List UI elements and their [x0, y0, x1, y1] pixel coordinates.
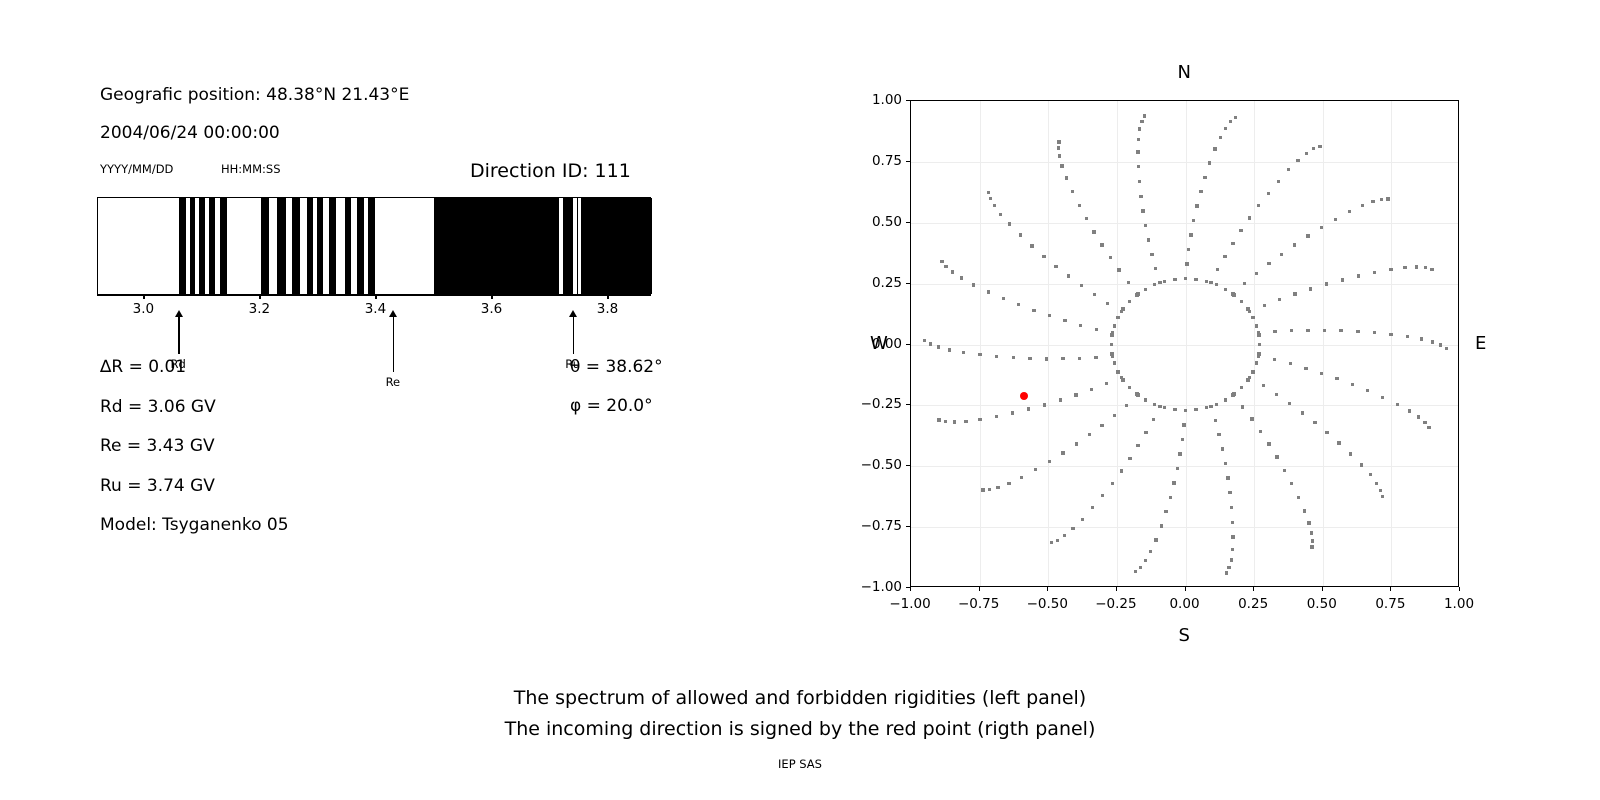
direction-point: [1339, 329, 1342, 332]
direction-point: [1389, 333, 1392, 336]
direction-point: [1375, 482, 1378, 485]
vertical-gridline: [1391, 101, 1392, 586]
direction-point: [1217, 433, 1220, 436]
forbidden-band: [190, 198, 195, 294]
direction-point: [1057, 146, 1060, 149]
direction-point: [1127, 281, 1130, 284]
direction-point: [1278, 298, 1281, 301]
direction-point: [953, 420, 956, 423]
direction-point: [1306, 234, 1309, 237]
forbidden-band: [277, 198, 286, 294]
x-tick: [1459, 587, 1460, 591]
direction-point: [1248, 216, 1251, 219]
forbidden-band: [581, 198, 652, 294]
x-tick-label: 0.75: [1375, 596, 1405, 612]
direction-point: [1246, 307, 1249, 310]
direction-point: [1058, 154, 1061, 157]
direction-point: [1194, 408, 1197, 411]
direction-point: [937, 345, 940, 348]
x-tick: [910, 587, 911, 591]
direction-point: [1205, 406, 1208, 409]
direction-point: [1430, 268, 1433, 271]
direction-point: [1240, 386, 1243, 389]
direction-point: [1144, 224, 1147, 227]
direction-point: [1424, 266, 1427, 269]
direction-point: [1313, 421, 1316, 424]
direction-point: [1065, 176, 1068, 179]
left-panel: Geografic position: 48.38°N 21.43°E 2004…: [0, 0, 760, 660]
direction-point: [1348, 210, 1351, 213]
direction-plot-area: [910, 100, 1459, 587]
direction-point: [1182, 423, 1185, 426]
direction-point: [978, 418, 981, 421]
x-tick: [1322, 587, 1323, 591]
direction-point: [1205, 280, 1208, 283]
direction-point: [1305, 152, 1308, 155]
direction-point: [1221, 447, 1224, 450]
direction-point: [1050, 541, 1053, 544]
spectrum-x-tick: [143, 295, 144, 299]
direction-point: [1379, 489, 1382, 492]
direction-point: [996, 486, 999, 489]
y-tick: [906, 283, 910, 284]
direction-point: [1158, 281, 1161, 284]
direction-point: [1160, 524, 1163, 527]
direction-point: [1048, 460, 1051, 463]
direction-point: [1138, 180, 1141, 183]
direction-point: [1209, 405, 1212, 408]
compass-north-label: N: [1178, 62, 1191, 83]
direction-point: [1125, 404, 1128, 407]
direction-point: [1406, 335, 1409, 338]
direction-point: [1389, 268, 1392, 271]
direction-point: [1214, 419, 1217, 422]
spectrum-marker-label: Re: [386, 375, 401, 389]
spectrum-plot-area: [97, 197, 651, 295]
direction-point: [987, 290, 990, 293]
direction-point: [1128, 300, 1131, 303]
direction-point: [1045, 357, 1048, 360]
direction-point: [1415, 265, 1418, 268]
direction-point: [923, 339, 926, 342]
direction-point: [1259, 430, 1262, 433]
direction-point: [1293, 292, 1296, 295]
direction-point: [1136, 444, 1139, 447]
direction-point: [1301, 411, 1304, 414]
direction-point: [1290, 329, 1293, 332]
direction-point: [1312, 147, 1315, 150]
direction-point: [1423, 421, 1426, 424]
direction-point: [1059, 398, 1062, 401]
direction-point: [1163, 280, 1166, 283]
direction-point: [1154, 267, 1157, 270]
direction-point: [1154, 538, 1157, 541]
y-tick-label: −0.75: [848, 518, 902, 534]
direction-point: [1071, 527, 1074, 530]
direction-point: [1135, 392, 1138, 395]
direction-point: [995, 415, 998, 418]
incoming-direction-point: [1020, 392, 1028, 400]
direction-point: [1230, 506, 1233, 509]
direction-point: [1386, 197, 1389, 200]
direction-point: [964, 420, 967, 423]
direction-point: [1134, 570, 1137, 573]
y-tick-label: 1.00: [848, 92, 902, 108]
direction-point: [1267, 442, 1270, 445]
direction-point: [1255, 361, 1258, 364]
forbidden-band: [199, 198, 205, 294]
direction-point: [1257, 333, 1260, 336]
direction-point: [1090, 388, 1093, 391]
direction-point: [1287, 168, 1290, 171]
direction-point: [1255, 272, 1258, 275]
direction-point: [1002, 297, 1005, 300]
direction-point: [1231, 242, 1234, 245]
direction-point: [999, 213, 1002, 216]
x-tick-label: 1.00: [1444, 596, 1474, 612]
credit-label: IEP SAS: [0, 757, 1600, 771]
forbidden-band: [345, 198, 351, 294]
direction-point: [1054, 265, 1057, 268]
direction-id-label: Direction ID: 111: [470, 160, 631, 182]
direction-point: [1092, 230, 1095, 233]
direction-point: [962, 351, 965, 354]
direction-point: [1144, 288, 1147, 291]
direction-point: [1275, 455, 1278, 458]
y-tick: [906, 404, 910, 405]
direction-point: [1334, 218, 1337, 221]
compass-west-label: W: [870, 333, 888, 354]
direction-point: [1356, 330, 1359, 333]
y-tick-label: 0.75: [848, 153, 902, 169]
direction-point: [1349, 452, 1352, 455]
forbidden-band: [220, 198, 227, 294]
direction-point: [1403, 266, 1406, 269]
direction-point: [940, 260, 943, 263]
parameter-row: ∆R = 0.01: [100, 357, 186, 377]
y-tick: [906, 465, 910, 466]
direction-point: [1241, 405, 1244, 408]
y-tick: [906, 100, 910, 101]
direction-point: [1137, 138, 1140, 141]
x-tick-label: −0.75: [958, 596, 999, 612]
direction-point: [1184, 409, 1187, 412]
vertical-gridline: [1117, 101, 1118, 586]
direction-point: [1189, 233, 1192, 236]
direction-point: [1231, 548, 1234, 551]
direction-point: [1152, 418, 1155, 421]
direction-point: [1323, 329, 1326, 332]
direction-point: [1311, 539, 1314, 542]
forbidden-band: [563, 198, 572, 294]
direction-point: [1113, 324, 1116, 327]
horizontal-gridline: [911, 284, 1458, 285]
direction-point: [1431, 340, 1434, 343]
direction-point: [1224, 127, 1227, 130]
direction-point: [1137, 165, 1140, 168]
direction-point: [1381, 495, 1384, 498]
direction-point: [1117, 268, 1120, 271]
direction-point: [1209, 281, 1212, 284]
y-tick: [906, 222, 910, 223]
direction-point: [944, 265, 947, 268]
direction-point: [1110, 352, 1113, 355]
direction-point: [1297, 496, 1300, 499]
direction-point: [1173, 408, 1176, 411]
direction-point: [1351, 383, 1354, 386]
vertical-gridline: [1254, 101, 1255, 586]
direction-point: [1110, 343, 1113, 346]
direction-point: [1150, 253, 1153, 256]
direction-point: [1290, 482, 1293, 485]
parameter-row: Re = 3.43 GV: [100, 436, 215, 456]
direction-point: [1445, 347, 1448, 350]
direction-point: [1369, 473, 1372, 476]
x-tick: [1047, 587, 1048, 591]
x-tick-label: −0.25: [1095, 596, 1136, 612]
direction-point: [1216, 268, 1219, 271]
y-tick-label: −0.25: [848, 396, 902, 412]
direction-point: [1008, 222, 1011, 225]
direction-point: [1199, 190, 1202, 193]
direction-point: [1341, 278, 1344, 281]
direction-point: [1113, 414, 1116, 417]
time-format-hint: HH:MM:SS: [221, 162, 281, 176]
direction-point: [1149, 550, 1152, 553]
direction-point: [944, 420, 947, 423]
direction-point: [1116, 316, 1119, 319]
direction-point: [1121, 307, 1124, 310]
direction-point: [1012, 356, 1015, 359]
vertical-gridline: [1048, 101, 1049, 586]
direction-point: [1195, 204, 1198, 207]
direction-point: [1056, 539, 1059, 542]
direction-point: [1213, 147, 1216, 150]
arrow-shaft: [573, 316, 574, 354]
direction-point: [1325, 431, 1328, 434]
direction-point: [1303, 509, 1306, 512]
direction-point: [1396, 403, 1399, 406]
direction-point: [1239, 229, 1242, 232]
direction-point: [1360, 463, 1363, 466]
direction-point: [1080, 284, 1083, 287]
forbidden-band: [292, 198, 300, 294]
caption-line-2: The incoming direction is signed by the …: [0, 718, 1600, 740]
y-tick-label: −1.00: [848, 579, 902, 595]
horizontal-gridline: [911, 405, 1458, 406]
compass-east-label: E: [1475, 333, 1486, 354]
direction-point: [1381, 396, 1384, 399]
direction-point: [1420, 337, 1423, 340]
direction-point: [1061, 357, 1064, 360]
direction-point: [1263, 304, 1266, 307]
direction-point: [1224, 288, 1227, 291]
direction-point: [1320, 226, 1323, 229]
direction-point: [978, 353, 981, 356]
direction-point: [1208, 161, 1211, 164]
direction-point: [1231, 521, 1234, 524]
direction-point: [1100, 424, 1103, 427]
direction-point: [1232, 392, 1235, 395]
x-tick-label: −0.50: [1027, 596, 1068, 612]
spectrum-x-tick-label: 3.2: [249, 301, 270, 317]
direction-point: [1306, 329, 1309, 332]
direction-point: [1234, 116, 1237, 119]
x-tick: [1185, 587, 1186, 591]
parameter-row: Model: Tsyganenko 05: [100, 515, 289, 535]
direction-point: [1417, 415, 1420, 418]
direction-point: [1335, 377, 1338, 380]
x-tick-label: 0.50: [1307, 596, 1337, 612]
direction-point: [1257, 352, 1260, 355]
angle-row: θ = 38.62°: [570, 357, 663, 377]
direction-point: [960, 276, 963, 279]
direction-point: [1225, 571, 1228, 574]
caption-line-1: The spectrum of allowed and forbidden ri…: [0, 687, 1600, 709]
arrow-up-icon: [569, 310, 577, 317]
forbidden-band: [261, 198, 269, 294]
spectrum-x-tick-label: 3.8: [597, 301, 618, 317]
forbidden-band: [577, 198, 579, 294]
y-tick: [906, 161, 910, 162]
x-tick: [979, 587, 980, 591]
direction-point: [1408, 409, 1411, 412]
direction-point: [1139, 195, 1142, 198]
direction-point: [1226, 476, 1229, 479]
y-tick-label: −0.50: [848, 457, 902, 473]
arrow-up-icon: [175, 310, 183, 317]
parameter-row: Ru = 3.74 GV: [100, 476, 215, 496]
direction-point: [1153, 283, 1156, 286]
direction-point: [1028, 357, 1031, 360]
direction-point: [1164, 510, 1167, 513]
direction-point: [1074, 393, 1077, 396]
direction-point: [1243, 282, 1246, 285]
direction-point: [1232, 293, 1235, 296]
direction-point: [1357, 274, 1360, 277]
direction-point: [937, 418, 940, 421]
direction-point: [1172, 481, 1175, 484]
direction-point: [1138, 127, 1141, 130]
vertical-gridline: [1323, 101, 1324, 586]
direction-point: [1169, 496, 1172, 499]
direction-point: [1176, 467, 1179, 470]
horizontal-gridline: [911, 527, 1458, 528]
direction-point: [1267, 192, 1270, 195]
geographic-position-label: Geografic position: 48.38°N 21.43°E: [100, 85, 409, 105]
direction-point: [1219, 136, 1222, 139]
direction-point: [981, 488, 984, 491]
direction-point: [1120, 469, 1123, 472]
spectrum-x-tick-label: 3.0: [133, 301, 154, 317]
direction-point: [1439, 343, 1442, 346]
direction-point: [1293, 243, 1296, 246]
x-tick: [1116, 587, 1117, 591]
direction-point: [1007, 482, 1010, 485]
arrow-up-icon: [389, 310, 397, 317]
direction-point: [1273, 358, 1276, 361]
direction-point: [1094, 356, 1097, 359]
direction-point: [988, 488, 991, 491]
direction-point: [1325, 282, 1328, 285]
direction-point: [987, 191, 990, 194]
direction-point: [1280, 253, 1283, 256]
direction-point: [1373, 271, 1376, 274]
direction-point: [1111, 482, 1114, 485]
direction-point: [1095, 328, 1098, 331]
direction-point: [995, 355, 998, 358]
direction-point: [1144, 398, 1147, 401]
direction-point: [1304, 367, 1307, 370]
vertical-gridline: [980, 101, 981, 586]
forbidden-band: [317, 198, 323, 294]
forbidden-band: [434, 198, 558, 294]
direction-point: [1255, 324, 1258, 327]
direction-point: [1240, 300, 1243, 303]
direction-point: [1113, 361, 1116, 364]
direction-point: [1116, 370, 1119, 373]
x-tick: [1253, 587, 1254, 591]
direction-point: [929, 342, 932, 345]
direction-point: [1085, 217, 1088, 220]
direction-point: [1027, 407, 1030, 410]
direction-point: [1215, 283, 1218, 286]
direction-point: [1246, 378, 1249, 381]
direction-point: [1178, 452, 1181, 455]
spectrum-x-tick: [607, 295, 608, 299]
forbidden-band: [179, 198, 186, 294]
direction-point: [1060, 164, 1063, 167]
direction-point: [1296, 159, 1299, 162]
direction-point: [1229, 120, 1232, 123]
direction-point: [1223, 255, 1226, 258]
direction-point: [1030, 244, 1033, 247]
direction-point: [1267, 262, 1270, 265]
direction-point: [1251, 370, 1254, 373]
angle-row: φ = 20.0°: [570, 396, 653, 416]
direction-point: [1275, 393, 1278, 396]
spectrum-x-tick: [259, 295, 260, 299]
direction-point: [1057, 140, 1060, 143]
spectrum-x-tick: [491, 295, 492, 299]
horizontal-gridline: [911, 162, 1458, 163]
direction-point: [989, 197, 992, 200]
x-tick-label: −1.00: [889, 596, 930, 612]
direction-point: [1063, 534, 1066, 537]
direction-point: [1143, 114, 1146, 117]
direction-point: [1307, 521, 1310, 524]
direction-point: [1061, 451, 1064, 454]
direction-point: [1231, 535, 1234, 538]
rigidity-spectrum-chart: [97, 197, 651, 295]
direction-point: [1020, 476, 1023, 479]
spectrum-x-tick: [375, 295, 376, 299]
right-panel: −1.00−0.75−0.50−0.250.000.250.500.751.00…: [820, 30, 1520, 650]
direction-point: [1309, 287, 1312, 290]
direction-point: [1224, 462, 1227, 465]
x-tick-label: 0.00: [1169, 596, 1199, 612]
direction-point: [1121, 378, 1124, 381]
direction-point: [1277, 180, 1280, 183]
direction-point: [1288, 402, 1291, 405]
direction-point: [1106, 302, 1109, 305]
spectrum-x-tick-label: 3.4: [365, 301, 386, 317]
direction-point: [1147, 238, 1150, 241]
direction-point: [1203, 176, 1206, 179]
direction-point: [1019, 233, 1022, 236]
parameter-row: Rd = 3.06 GV: [100, 397, 216, 417]
direction-point: [1109, 256, 1112, 259]
